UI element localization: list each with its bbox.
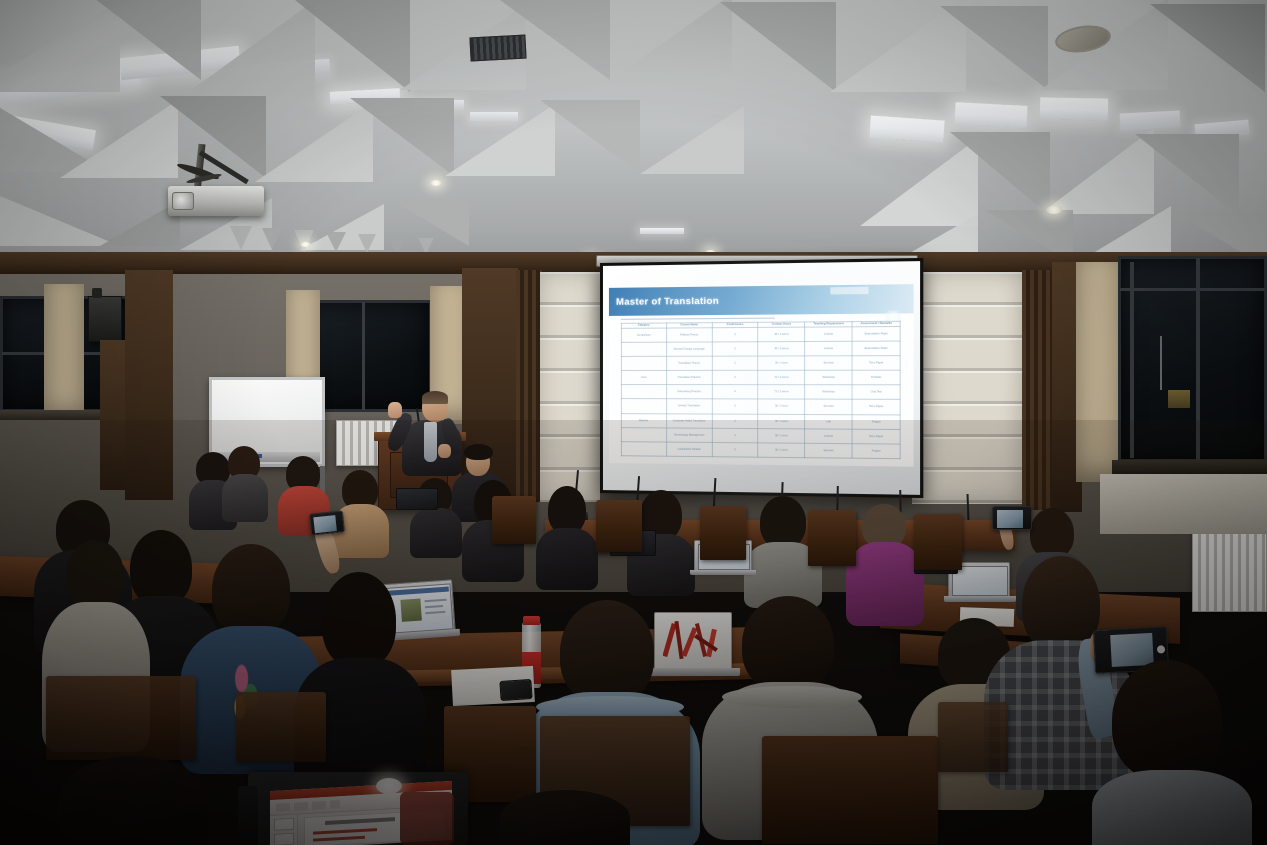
laptop-lid-artwork: [663, 619, 725, 663]
audience-hair: [322, 572, 396, 668]
table-cell: Interpreting Practice: [666, 385, 712, 399]
ceiling-strip-light: [954, 102, 1027, 128]
screen-text-line: [425, 605, 443, 608]
table-cell: 72 / 2 terms: [758, 370, 805, 385]
table-cell: [621, 356, 666, 370]
conference-chair[interactable]: [596, 500, 642, 552]
laptop-screen: [952, 566, 1008, 596]
audience-hair: [1112, 660, 1222, 780]
audience-torso: [1092, 770, 1252, 845]
table-cell: Examination Paper: [852, 341, 900, 356]
window-mullion: [1130, 262, 1134, 458]
table-cell: Project: [852, 444, 900, 459]
laptop-base: [648, 668, 740, 676]
table-cell: 36 / 2 terms: [758, 327, 805, 342]
table-row: Localization Studies236 / 1 termSeminarP…: [621, 442, 900, 459]
ribbon-button[interactable]: [330, 800, 340, 809]
projection-screen: Master of Translation CategoryCourse Nam…: [600, 258, 923, 498]
smartphone-screen: [997, 510, 1023, 528]
seated-host-hair: [464, 444, 493, 460]
audience-hair: [548, 486, 586, 534]
table-cell: 2: [712, 442, 758, 457]
window-curtain: [1076, 262, 1122, 482]
audience-hair: [742, 596, 834, 692]
conference-chair[interactable]: [236, 692, 326, 762]
presentation-slide: Master of Translation CategoryCourse Nam…: [609, 285, 913, 467]
laptop-bezel-left: [238, 786, 258, 845]
table-cell: Literary Translation: [666, 399, 712, 414]
table-cell: Localization Studies: [666, 442, 712, 457]
laptop-base: [690, 570, 756, 575]
table-cell: 72 / 2 terms: [758, 385, 805, 400]
table-cell: Term Paper: [852, 429, 900, 444]
ribbon-button[interactable]: [276, 803, 290, 812]
table-row: Translation Theory236 / 1 termSeminarTer…: [621, 356, 900, 371]
table-cell: Seminar: [805, 400, 852, 415]
table-cell: [621, 385, 666, 399]
table-cell: Project: [852, 414, 900, 429]
slide-bullet-text: [313, 828, 377, 835]
audience-torso: [222, 474, 268, 522]
table-cell: [621, 442, 666, 457]
table-cell: Terminology Management: [666, 428, 712, 443]
ribbon-button[interactable]: [312, 801, 326, 810]
table-cell: [621, 342, 666, 356]
presenter-tie: [424, 422, 437, 462]
conference-chair[interactable]: [938, 702, 1008, 772]
table-cell: 36 / 1 term: [758, 399, 805, 414]
wall-speaker: [88, 296, 122, 342]
window-blind-cord: [1160, 336, 1162, 390]
presenter-hair: [422, 391, 448, 404]
table-cell: Political Theory: [666, 327, 712, 342]
table-cell: 2: [712, 342, 758, 357]
table-cell: Translation Theory: [666, 356, 712, 370]
ceiling-strip-light: [640, 228, 684, 234]
table-cell: 2: [712, 414, 758, 429]
laptop-base: [944, 596, 1016, 602]
conference-chair[interactable]: [762, 736, 938, 844]
ceiling-downlight: [1046, 206, 1062, 214]
table-cell: 36 / 1 term: [758, 356, 805, 371]
audience-hair: [130, 530, 192, 606]
table-cell: Workshop: [805, 370, 852, 385]
slide-bullet-text: [313, 836, 365, 842]
slide-thumbnail[interactable]: [274, 818, 294, 831]
table-row: Literary Translation236 / 1 termSeminarT…: [621, 399, 900, 415]
ceiling-air-vent: [469, 35, 526, 62]
slide-tab-badge: [830, 287, 868, 295]
bottle-cap: [523, 616, 540, 625]
audience-hair: [760, 496, 806, 548]
acoustic-wall-panel: [540, 272, 600, 502]
table-cell: Seminar: [805, 356, 852, 371]
table-cell: 2: [712, 356, 758, 371]
table-cell: 2: [712, 399, 758, 414]
ceiling-downlight: [430, 180, 442, 186]
screen-thumbnail: [400, 599, 421, 622]
table-cell: Portfolio: [852, 370, 900, 385]
ceiling-downlight: [300, 242, 311, 247]
table-cell: Term Paper: [852, 356, 900, 371]
window-mullion: [1120, 288, 1265, 291]
camera-shutter-button[interactable]: [1157, 645, 1165, 653]
window-sill: [1112, 460, 1267, 474]
table-cell: 4: [712, 371, 758, 385]
table-body: CompulsoryPolitical Theory236 / 2 termsL…: [621, 326, 900, 459]
slide-body: CategoryCourse NameCredit HoursContact H…: [621, 321, 901, 459]
audience-hair: [1030, 508, 1074, 558]
audience-torso-magenta-jacket: [846, 542, 924, 626]
audience-hair: [66, 540, 124, 610]
smartphone[interactable]: [499, 679, 532, 701]
slide-thumbnail[interactable]: [274, 833, 294, 845]
table-row: CoreTranslation Practice472 / 2 termsWor…: [621, 370, 900, 385]
screen-text-line: [424, 599, 446, 603]
table-cell: Examination Paper: [852, 326, 900, 341]
audience-torso: [536, 528, 598, 590]
table-cell: Lab: [805, 414, 852, 429]
audience-hair: [212, 544, 290, 636]
foreground-head: [500, 790, 630, 845]
audience-hair: [560, 600, 654, 704]
screen-text-line: [425, 611, 445, 614]
slide-subtitle-rule: [621, 318, 775, 320]
conference-chair[interactable]: [492, 496, 536, 544]
table-cell: 4: [712, 385, 758, 400]
artwork-stroke: [682, 627, 698, 657]
wall-lower-section: [1100, 474, 1267, 534]
conference-chair[interactable]: [808, 510, 856, 566]
table-cell: Compulsory: [621, 328, 666, 343]
window-mullion: [362, 302, 365, 410]
table-cell: Oral Test: [852, 385, 900, 400]
table-cell: 2: [712, 428, 758, 443]
table-cell: [621, 427, 666, 442]
presenter-hand: [438, 444, 451, 458]
table-cell: [621, 399, 666, 413]
audience-torso: [410, 508, 462, 558]
curriculum-table: CategoryCourse NameCredit HoursContact H…: [621, 321, 901, 459]
red-fabric-object: [400, 792, 454, 845]
table-cell: 36 / 1 term: [758, 428, 805, 443]
table-cell: 2: [712, 327, 758, 342]
table-row: Second Foreign Language236 / 2 termsLect…: [621, 341, 900, 357]
table-cell: Lecture: [805, 326, 852, 341]
table-cell: Lecture: [805, 341, 852, 356]
table-cell: Second Foreign Language: [666, 342, 712, 357]
slide-heading-text: [325, 817, 395, 825]
ribbon-button[interactable]: [294, 802, 308, 811]
laptop-lid-with-artwork[interactable]: [654, 612, 732, 670]
foreground-head: [58, 756, 208, 845]
wood-slat-panel: [1022, 270, 1056, 510]
table-cell: Workshop: [805, 385, 852, 400]
table-cell: Term Paper: [852, 400, 900, 415]
smartphone[interactable]: [992, 506, 1032, 530]
acoustic-wall-panel: [912, 272, 1022, 504]
wood-wall-panel: [125, 270, 173, 500]
projector-lens-icon: [172, 192, 194, 210]
hoodie-collar: [536, 696, 684, 718]
hoodie-collar: [722, 686, 862, 708]
table-cell: Elective: [621, 413, 666, 428]
projection-screen-surface: Master of Translation CategoryCourse Nam…: [603, 261, 920, 495]
speaker-bracket: [92, 288, 102, 298]
table-row: CompulsoryPolitical Theory236 / 2 termsL…: [621, 326, 900, 342]
night-window: [1118, 256, 1267, 462]
wood-slat-panel: [516, 270, 542, 502]
table-cell: 36 / 1 term: [758, 443, 805, 458]
table-cell: 36 / 1 term: [758, 414, 805, 429]
table-cell: Core: [621, 371, 666, 385]
lens-flare: [376, 778, 402, 794]
open-laptop[interactable]: [396, 488, 438, 510]
slide-title: Master of Translation: [609, 296, 719, 308]
table-row: Interpreting Practice472 / 2 termsWorksh…: [621, 385, 900, 400]
smartphone-screen: [313, 515, 337, 533]
smartphone[interactable]: [309, 510, 345, 535]
table-cell: Computer-Aided Translation: [666, 413, 712, 428]
presenter-hand: [388, 402, 402, 418]
browser-titlebar: [381, 587, 449, 597]
photograph-scene: Master of Translation CategoryCourse Nam…: [0, 0, 1267, 845]
table-cell: 36 / 2 terms: [758, 341, 805, 356]
window-reflection-sign: [1168, 390, 1190, 408]
window-curtain: [44, 284, 84, 420]
table-cell: Seminar: [805, 443, 852, 458]
slide-thumbnail-pane[interactable]: [270, 815, 298, 845]
smartphone-screen: [1110, 633, 1154, 667]
conference-chair[interactable]: [700, 506, 746, 560]
conference-chair[interactable]: [46, 676, 196, 760]
table-cell: Lecture: [805, 429, 852, 444]
ceiling-strip-light: [1040, 97, 1108, 120]
table-cell: Translation Practice: [666, 371, 712, 385]
conference-chair[interactable]: [914, 514, 962, 570]
